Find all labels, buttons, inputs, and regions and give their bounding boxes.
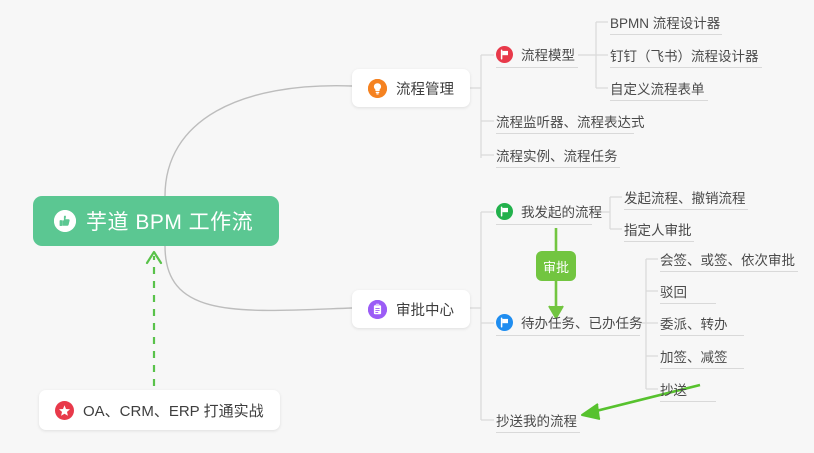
leaf-instance-task[interactable]: 流程实例、流程任务 [496, 145, 618, 165]
leaf-start-cancel[interactable]: 发起流程、撤销流程 [624, 187, 746, 207]
leaf-label-countersign: 会签、或签、依次审批 [660, 249, 795, 269]
flag-icon [496, 203, 513, 220]
underline-todo-tasks [496, 335, 640, 336]
leaf-dingtalk-designer[interactable]: 钉钉（飞书）流程设计器 [610, 45, 759, 65]
underline-countersign [660, 271, 798, 272]
leaf-label-assignee-approve: 指定人审批 [624, 219, 692, 239]
leaf-listener-expression[interactable]: 流程监听器、流程表达式 [496, 111, 645, 131]
leaf-custom-form[interactable]: 自定义流程表单 [610, 78, 705, 98]
root-node[interactable]: 芋道 BPM 工作流 [33, 196, 279, 246]
arrow-cc-head [582, 404, 600, 419]
dashed-arrow-head [147, 252, 161, 263]
leaf-label-dingtalk-designer: 钉钉（飞书）流程设计器 [610, 45, 759, 65]
branch-label-approval-center: 审批中心 [396, 299, 454, 320]
wire-root-to-approval-center [165, 246, 352, 310]
leaf-countersign[interactable]: 会签、或签、依次审批 [660, 249, 795, 269]
leaf-label-reject: 驳回 [660, 281, 687, 301]
underline-cc-to-me [496, 432, 580, 433]
flag-icon [496, 314, 513, 331]
leaf-label-cc-to-me: 抄送我的流程 [496, 410, 577, 430]
branch-node-process-mgmt[interactable]: 流程管理 [352, 69, 470, 107]
leaf-label-start-cancel: 发起流程、撤销流程 [624, 187, 746, 207]
leaf-label-add-sign: 加签、减签 [660, 346, 728, 366]
node-label-todo-tasks: 待办任务、已办任务 [521, 312, 643, 332]
floating-node-integration[interactable]: OA、CRM、ERP 打通实战 [39, 390, 280, 430]
leaf-label-custom-form: 自定义流程表单 [610, 78, 705, 98]
leaf-add-sign[interactable]: 加签、减签 [660, 346, 728, 366]
underline-custom-form [610, 100, 708, 101]
leaf-label-delegate: 委派、转办 [660, 313, 728, 333]
underline-listener-expression [496, 133, 634, 134]
branch-node-approval-center[interactable]: 审批中心 [352, 290, 470, 328]
badge-approve-label: 审批 [543, 257, 569, 276]
leaf-reject[interactable]: 驳回 [660, 281, 687, 301]
node-my-started[interactable]: 我发起的流程 [496, 201, 602, 221]
underline-assignee-approve [624, 241, 694, 242]
root-label: 芋道 BPM 工作流 [86, 206, 253, 236]
flag-icon [496, 46, 513, 63]
branch-label-process-mgmt: 流程管理 [396, 78, 454, 99]
leaf-assignee-approve[interactable]: 指定人审批 [624, 219, 692, 239]
underline-dingtalk-designer [610, 67, 762, 68]
leaf-label-instance-task: 流程实例、流程任务 [496, 145, 618, 165]
star-icon [55, 401, 74, 420]
node-todo-tasks[interactable]: 待办任务、已办任务 [496, 312, 643, 332]
clipboard-icon [368, 300, 387, 319]
underline-reject [660, 303, 716, 304]
leaf-label-cc: 抄送 [660, 379, 687, 399]
leaf-cc-to-me[interactable]: 抄送我的流程 [496, 410, 577, 430]
leaf-bpmn-designer[interactable]: BPMN 流程设计器 [610, 12, 720, 32]
underline-cc [660, 401, 716, 402]
leaf-delegate[interactable]: 委派、转办 [660, 313, 728, 333]
underline-add-sign [660, 368, 744, 369]
thumbs-up-icon [54, 210, 76, 232]
leaf-label-bpmn-designer: BPMN 流程设计器 [610, 12, 720, 32]
lightbulb-icon [368, 79, 387, 98]
node-label-my-started: 我发起的流程 [521, 201, 602, 221]
underline-bpmn-designer [610, 34, 722, 35]
wire-root-to-process-mgmt [165, 86, 352, 196]
underline-delegate [660, 335, 744, 336]
node-label-process-model: 流程模型 [521, 44, 575, 64]
underline-process-model [496, 67, 578, 68]
underline-my-started [496, 224, 592, 225]
leaf-cc[interactable]: 抄送 [660, 379, 687, 399]
floating-label-integration: OA、CRM、ERP 打通实战 [83, 400, 264, 421]
badge-approve[interactable]: 审批 [536, 251, 576, 281]
underline-start-cancel [624, 209, 748, 210]
underline-instance-task [496, 167, 620, 168]
node-process-model[interactable]: 流程模型 [496, 44, 575, 64]
mindmap-canvas: 芋道 BPM 工作流 流程管理 审批中心 [0, 0, 814, 453]
leaf-label-listener-expression: 流程监听器、流程表达式 [496, 111, 645, 131]
